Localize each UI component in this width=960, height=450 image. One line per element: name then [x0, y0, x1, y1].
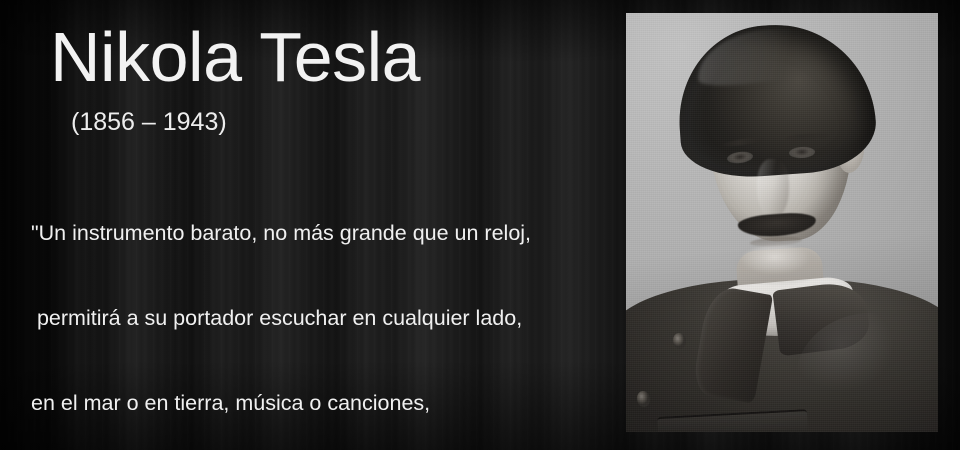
portrait-chin [736, 245, 822, 285]
quote-line: "Un instrumento barato, no más grande qu… [31, 219, 531, 247]
portrait-shoulder-highlight [796, 313, 938, 432]
portrait-photo [626, 13, 938, 432]
quote-line: en el mar o en tierra, música o cancione… [31, 389, 531, 417]
quote-block: "Un instrumento barato, no más grande qu… [31, 162, 531, 450]
portrait-nose [757, 159, 789, 219]
quote-line: permitirá a su portador escuchar en cual… [31, 304, 531, 332]
slide-canvas: Nikola Tesla (1856 – 1943) "Un instrumen… [0, 0, 960, 450]
lifespan-subtitle: (1856 – 1943) [71, 110, 227, 135]
page-title: Nikola Tesla [50, 22, 420, 92]
